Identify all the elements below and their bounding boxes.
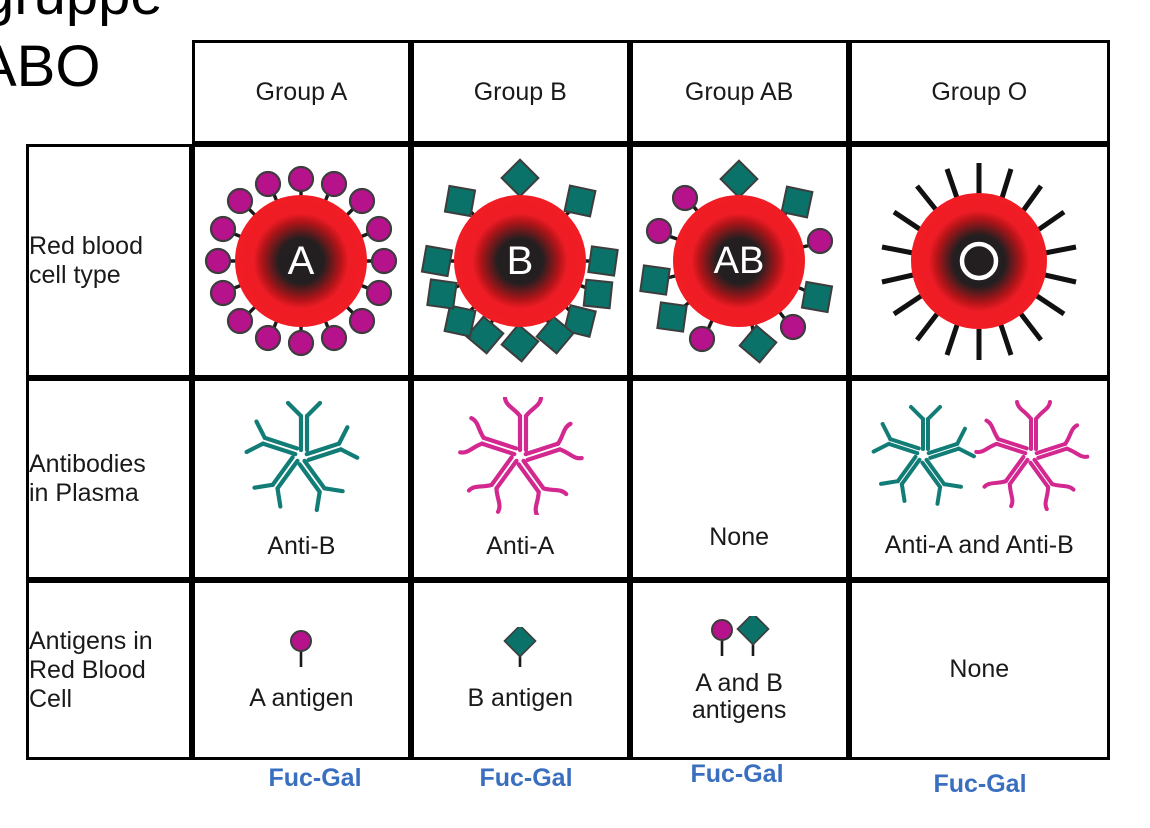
row-label-antigens-in-red-blood-cell: Antigens in Red Blood Cell <box>26 580 192 760</box>
antigen-caption-group-o: None <box>949 656 1009 684</box>
cell-letter-ab: AB <box>713 240 764 282</box>
cell-antigen-group-b: B antigen <box>411 580 630 760</box>
column-header-group-b: Group B <box>411 40 630 144</box>
red-blood-cell-ab-icon: AB <box>637 154 842 369</box>
red-blood-cell-o-icon <box>877 154 1082 369</box>
title-line-top: gruppe <box>0 0 163 24</box>
cell-antigen-group-o: None <box>849 580 1110 760</box>
red-blood-cell-a-icon: A <box>199 154 404 369</box>
antibody-caption-group-b: Anti-A <box>486 533 554 561</box>
a-antigen-icon <box>281 627 321 673</box>
table-row-antibodies-in-plasma: Antibodies in Plasma <box>26 378 1110 580</box>
row-label-line-2: Red Blood <box>29 656 189 685</box>
antigen-caption-line-1: A and B <box>692 670 787 698</box>
table-row-red-blood-cell-type: Red blood cell type <box>26 144 1110 378</box>
row-label-line-1: Red blood <box>29 232 189 261</box>
diagram-canvas: gruppe ABO Group A Group B Group AB Grou… <box>0 0 1150 828</box>
row-label-line-1: Antibodies <box>29 450 189 479</box>
a-and-b-antigens-icon <box>701 616 777 662</box>
cell-rbc-group-a: A <box>192 144 411 378</box>
table-header-row: Group A Group B Group AB Group O <box>26 40 1110 144</box>
cell-antibody-group-a: Anti-B <box>192 378 411 580</box>
antibody-caption-group-a: Anti-B <box>267 533 335 561</box>
antigen-caption-line-2: antigens <box>692 697 787 725</box>
column-header-group-a: Group A <box>192 40 411 144</box>
row-label-red-blood-cell-type: Red blood cell type <box>26 144 192 378</box>
anti-a-and-anti-b-antibody-icon <box>861 398 1097 516</box>
cell-rbc-group-ab: AB <box>630 144 849 378</box>
antibody-caption-group-o: Anti-A and Anti-B <box>885 532 1074 560</box>
cell-rbc-group-o <box>849 144 1110 378</box>
table-row-antigens-in-red-blood-cell: Antigens in Red Blood Cell A antigen <box>26 580 1110 760</box>
cell-antibody-group-o: Anti-A and Anti-B <box>849 378 1110 580</box>
row-label-line-2: in Plasma <box>29 479 189 508</box>
row-label-line-1: Antigens in <box>29 627 189 656</box>
footnote-fuc-gal-group-o: Fuc-Gal <box>895 770 1065 799</box>
row-label-antibodies-in-plasma: Antibodies in Plasma <box>26 378 192 580</box>
antigen-caption-group-b: B antigen <box>467 685 573 713</box>
anti-a-antibody-icon <box>445 397 595 515</box>
footnote-fuc-gal-group-a: Fuc-Gal <box>230 764 400 793</box>
cell-antibody-group-ab: None <box>630 378 849 580</box>
footnote-fuc-gal-group-ab: Fuc-Gal <box>652 760 822 789</box>
antigen-caption-group-ab: A and B antigens <box>692 670 787 725</box>
cell-antibody-group-b: Anti-A <box>411 378 630 580</box>
row-label-line-3: Cell <box>29 685 189 714</box>
footnote-fuc-gal-group-b: Fuc-Gal <box>441 764 611 793</box>
column-header-group-ab: Group AB <box>630 40 849 144</box>
cell-antigen-group-ab: A and B antigens <box>630 580 849 760</box>
antibody-caption-group-ab: None <box>709 524 769 552</box>
red-blood-cell-b-icon: B <box>418 154 623 369</box>
cell-letter-b: B <box>506 239 533 283</box>
cell-antigen-group-a: A antigen <box>192 580 411 760</box>
antigen-caption-group-a: A antigen <box>249 685 353 713</box>
cell-rbc-group-b: B <box>411 144 630 378</box>
anti-b-antibody-icon <box>226 397 376 515</box>
table-corner-cell <box>26 40 192 144</box>
cell-letter-a: A <box>288 239 315 283</box>
column-header-group-o: Group O <box>849 40 1110 144</box>
blood-group-table: Group A Group B Group AB Group O Red blo… <box>26 40 1110 738</box>
b-antigen-icon <box>500 627 540 673</box>
row-label-line-2: cell type <box>29 261 189 290</box>
